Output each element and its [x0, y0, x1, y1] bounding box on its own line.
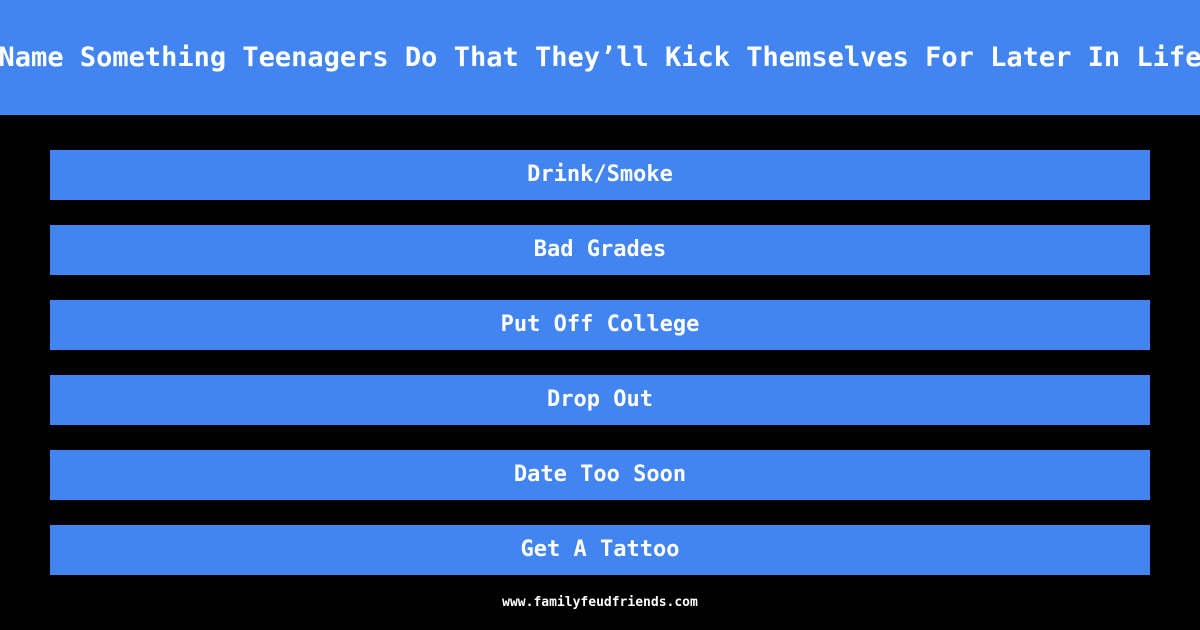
answer-bar-3[interactable]: Put Off College — [50, 300, 1150, 350]
answer-bar-1[interactable]: Drink/Smoke — [50, 150, 1150, 200]
site-url: www.familyfeudfriends.com — [502, 596, 698, 609]
family-feud-answer-card: Name Something Teenagers Do That They’ll… — [0, 0, 1200, 630]
answer-bar-5[interactable]: Date Too Soon — [50, 450, 1150, 500]
answer-label: Get A Tattoo — [521, 539, 680, 561]
answers-list: Drink/Smoke Bad Grades Put Off College D… — [0, 115, 1200, 575]
question-text: Name Something Teenagers Do That They’ll… — [0, 44, 1200, 71]
answer-bar-2[interactable]: Bad Grades — [50, 225, 1150, 275]
answer-label: Put Off College — [501, 314, 700, 336]
question-banner: Name Something Teenagers Do That They’ll… — [0, 0, 1200, 115]
answer-label: Drink/Smoke — [527, 164, 673, 186]
answer-label: Date Too Soon — [514, 464, 686, 486]
answer-bar-6[interactable]: Get A Tattoo — [50, 525, 1150, 575]
answer-label: Bad Grades — [534, 239, 666, 261]
answer-bar-4[interactable]: Drop Out — [50, 375, 1150, 425]
answer-label: Drop Out — [547, 389, 653, 411]
footer: www.familyfeudfriends.com — [0, 575, 1200, 630]
